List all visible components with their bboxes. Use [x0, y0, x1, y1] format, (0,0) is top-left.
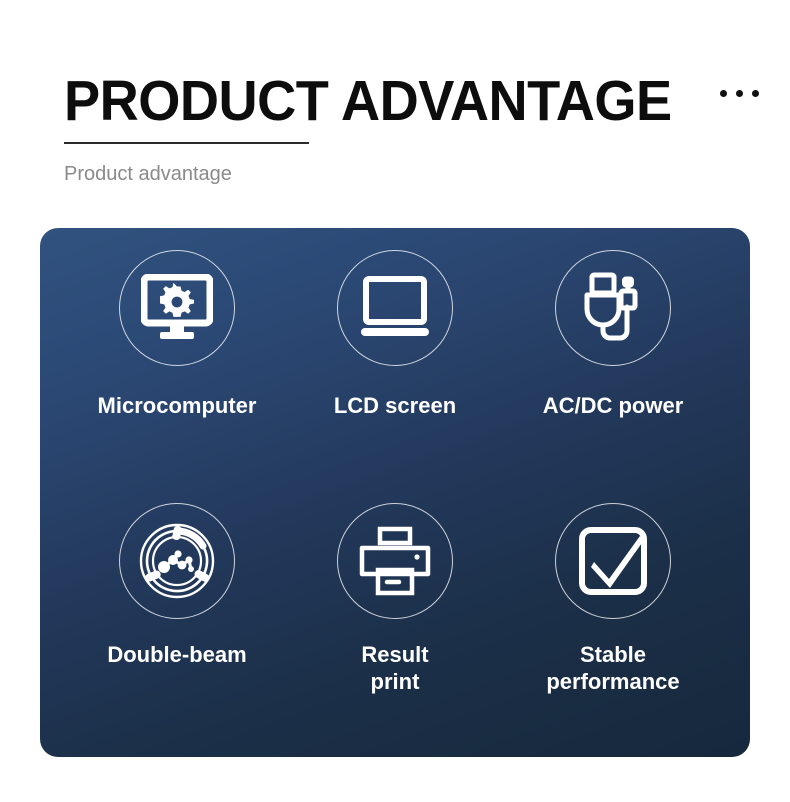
title-underline-rule [64, 142, 309, 144]
usb-power-cable-icon [555, 250, 671, 366]
feature-item-stable-performance[interactable]: Stable performance [504, 495, 722, 740]
printer-icon [337, 503, 453, 619]
page-title: PRODUCT ADVANTAGE [64, 70, 672, 132]
feature-item-microcomputer[interactable]: Microcomputer [68, 250, 286, 495]
title-dots-decoration [720, 90, 759, 97]
feature-grid: Microcomputer LCD screen [40, 228, 750, 757]
title-dot [720, 90, 727, 97]
laptop-screen-icon [337, 250, 453, 366]
checkbox-check-icon [555, 503, 671, 619]
title-dot [736, 90, 743, 97]
feature-label: AC/DC power [543, 392, 684, 419]
page-header: PRODUCT ADVANTAGE Product advantage [64, 70, 764, 186]
feature-label: Stable performance [546, 641, 679, 695]
product-advantage-panel: Microcomputer LCD screen [40, 228, 750, 757]
feature-item-acdc-power[interactable]: AC/DC power [504, 250, 722, 495]
monitor-gear-icon [119, 250, 235, 366]
title-dot [752, 90, 759, 97]
feature-item-lcd-screen[interactable]: LCD screen [286, 250, 504, 495]
feature-label: LCD screen [334, 392, 456, 419]
feature-label: Result print [361, 641, 428, 695]
molecule-beam-icon [119, 503, 235, 619]
page-subtitle: Product advantage [64, 162, 764, 186]
title-row: PRODUCT ADVANTAGE [64, 70, 764, 132]
feature-label: Microcomputer [98, 392, 257, 419]
feature-label: Double-beam [107, 641, 246, 668]
feature-item-double-beam[interactable]: Double-beam [68, 495, 286, 740]
feature-item-result-print[interactable]: Result print [286, 495, 504, 740]
